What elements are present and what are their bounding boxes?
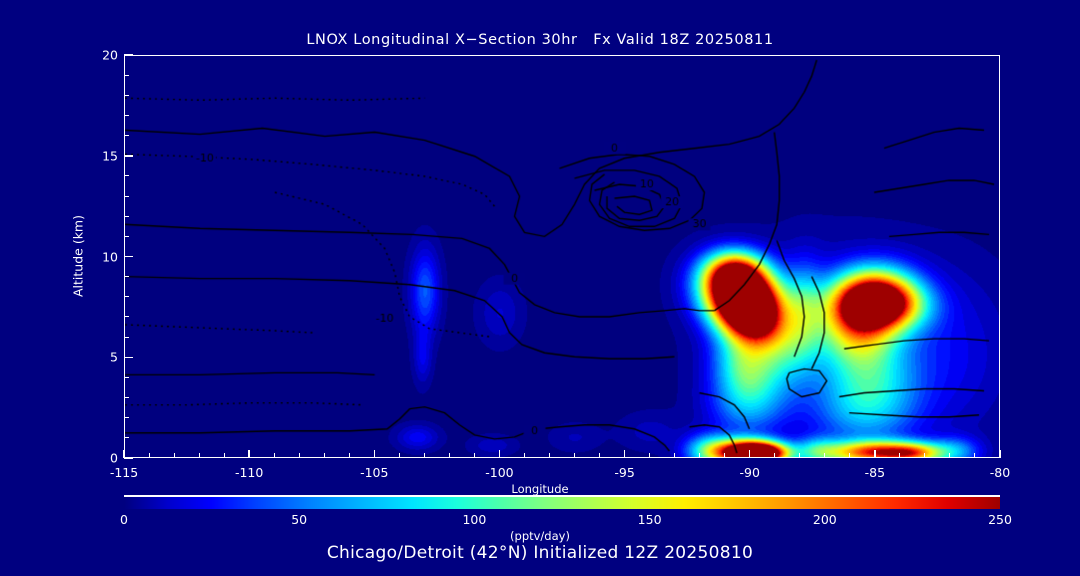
y-axis-tick-label: 20 [88,48,118,63]
colorbar-units-label: (pptv/day) [0,529,1080,543]
x-axis-minor-tick [849,453,850,458]
x-axis-minor-tick [399,453,400,458]
y-axis-minor-tick [124,337,129,338]
y-axis-tick [124,155,133,157]
y-axis-minor-tick [124,196,129,197]
colorbar-tick-label: 250 [988,512,1012,527]
x-axis-minor-tick [149,453,150,458]
colorbar [124,495,1000,509]
x-axis-tick-label: -90 [739,465,759,480]
y-axis-tick [124,457,133,459]
x-axis-minor-tick [324,453,325,458]
y-axis-minor-tick [124,135,129,136]
x-axis-tick [874,450,876,458]
x-axis-tick [624,450,626,458]
x-axis-label: Longitude [0,482,1080,496]
y-axis-minor-tick [124,236,129,237]
x-axis-tick [999,450,1001,458]
x-axis-tick-label: -80 [990,465,1010,480]
y-axis-tick-label: 10 [88,249,118,264]
y-axis-minor-tick [124,296,129,297]
x-axis-minor-tick [574,453,575,458]
y-axis-tick [124,256,133,258]
x-axis-minor-tick [549,453,550,458]
x-axis-minor-tick [699,453,700,458]
x-axis-minor-tick [349,453,350,458]
x-axis-tick-label: -110 [235,465,263,480]
y-axis-minor-tick [124,216,129,217]
x-axis-minor-tick [724,453,725,458]
plot-area[interactable] [124,55,1000,458]
colorbar-tick-label: 50 [291,512,307,527]
x-axis-tick-label: -115 [110,465,138,480]
page-title: LNOX Longitudinal X−Section 30hr Fx Vali… [0,32,1080,48]
colorbar-tick-label: 0 [120,512,128,527]
colorbar-gradient [124,495,1000,509]
y-axis-tick-label: 15 [88,148,118,163]
y-axis-minor-tick [124,377,129,378]
y-axis-minor-tick [124,397,129,398]
y-axis-tick-label: 0 [88,451,118,466]
x-axis-minor-tick [199,453,200,458]
colorbar-tick-label: 150 [638,512,662,527]
x-axis-minor-tick [974,453,975,458]
y-axis-tick [124,54,133,56]
y-axis-minor-tick [124,437,129,438]
x-axis-tick [374,450,376,458]
x-axis-minor-tick [599,453,600,458]
x-axis-minor-tick [899,453,900,458]
x-axis-minor-tick [924,453,925,458]
x-axis-tick [749,450,751,458]
y-axis-minor-tick [124,316,129,317]
x-axis-minor-tick [649,453,650,458]
x-axis-tick [248,450,250,458]
x-axis-minor-tick [674,453,675,458]
x-axis-minor-tick [174,453,175,458]
y-axis-minor-tick [124,276,129,277]
x-axis-minor-tick [524,453,525,458]
x-axis-minor-tick [774,453,775,458]
figure-canvas: LNOX Longitudinal X−Section 30hr Fx Vali… [0,0,1080,576]
y-axis-minor-tick [124,417,129,418]
y-axis-minor-tick [124,95,129,96]
cross-section-heatmap [125,56,999,457]
colorbar-tick-label: 100 [462,512,486,527]
x-axis-minor-tick [449,453,450,458]
x-axis-minor-tick [824,453,825,458]
x-axis-tick-label: -105 [360,465,388,480]
y-axis-tick-label: 5 [88,350,118,365]
x-axis-minor-tick [299,453,300,458]
x-axis-tick-label: -100 [485,465,513,480]
x-axis-minor-tick [799,453,800,458]
y-axis-minor-tick [124,75,129,76]
y-axis-tick [124,357,133,359]
y-axis-minor-tick [124,115,129,116]
x-axis-tick-label: -85 [865,465,885,480]
figure-caption: Chicago/Detroit (42°N) Initialized 12Z 2… [0,543,1080,563]
x-axis-minor-tick [474,453,475,458]
x-axis-minor-tick [424,453,425,458]
y-axis-label: Altitude (km) [71,215,86,297]
x-axis-tick [123,450,125,458]
x-axis-tick-label: -95 [614,465,634,480]
x-axis-minor-tick [949,453,950,458]
x-axis-tick [499,450,501,458]
colorbar-tick-label: 200 [813,512,837,527]
y-axis-minor-tick [124,175,129,176]
x-axis-minor-tick [224,453,225,458]
x-axis-minor-tick [274,453,275,458]
